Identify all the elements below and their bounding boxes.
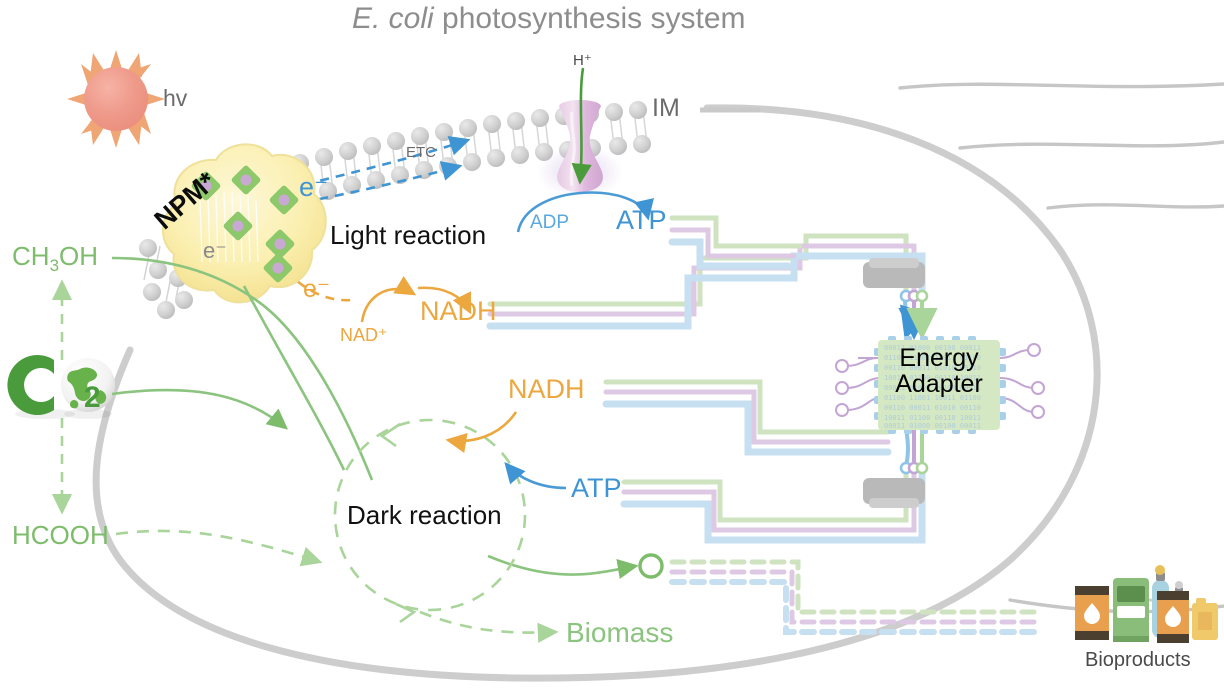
methanol-tail: OH <box>59 241 98 271</box>
label-nad-plus: NAD⁺ <box>340 326 388 344</box>
label-adp: ADP <box>530 213 569 232</box>
svg-text:00110 00011 01010 00110: 00110 00011 01010 00110 <box>884 404 981 412</box>
label-nadh-dark: NADH <box>508 376 585 403</box>
label-nadh-light: NADH <box>420 298 497 325</box>
label-im: IM <box>652 96 680 121</box>
label-formic-acid: HCOOH <box>12 522 109 548</box>
label-electron-blue: e⁻ <box>299 174 328 201</box>
label-dark-reaction: Dark reaction <box>347 502 502 528</box>
diagram-canvas: 00011 01000 00100 00011 01100 11001 1001… <box>0 0 1224 691</box>
label-co2-subscript: 2 <box>84 383 101 413</box>
npm-nanoparticle-cluster <box>163 144 326 302</box>
chip-label-line1: Energy <box>876 345 1002 371</box>
chip-label-line2: Adapter <box>876 371 1002 397</box>
label-etc: ETC <box>406 145 436 160</box>
label-biomass: Biomass <box>566 619 673 647</box>
page-title: E. coli photosynthesis system <box>352 4 746 34</box>
svg-text:10011 01100 00110 10011: 10011 01100 00110 10011 <box>884 414 981 422</box>
methanol-sub: 3 <box>50 256 59 275</box>
bioproducts-icon <box>1075 565 1218 643</box>
label-electron-orange: e⁻ <box>303 277 330 302</box>
label-light-reaction: Light reaction <box>330 222 486 248</box>
label-methanol: CH3OH <box>12 243 98 274</box>
nadh-to-dark-arrow <box>448 412 516 441</box>
chip-label: Energy Adapter <box>876 345 1002 397</box>
label-electron-gray: e⁻ <box>203 240 227 262</box>
atp-to-dark-arrow <box>506 464 566 488</box>
label-atp-light: ATP <box>616 207 667 234</box>
dark-reaction-arrow-top <box>382 424 400 446</box>
label-atp-dark: ATP <box>571 475 622 502</box>
label-bioproducts: Bioproducts <box>1085 650 1191 670</box>
methanol-main: CH <box>12 241 50 271</box>
dark-reaction-arrow-bottom <box>396 604 414 622</box>
label-h-plus: H⁺ <box>573 53 592 68</box>
label-hv: hv <box>163 87 187 110</box>
title-italic: E. coli <box>352 2 434 35</box>
sun-icon <box>67 50 165 148</box>
product-node-icon <box>640 555 662 577</box>
title-rest: photosynthesis system <box>434 2 746 35</box>
svg-text:00011 01000 00100 00011: 00011 01000 00100 00011 <box>884 422 981 430</box>
nad-to-nadh-arrow <box>362 289 414 322</box>
